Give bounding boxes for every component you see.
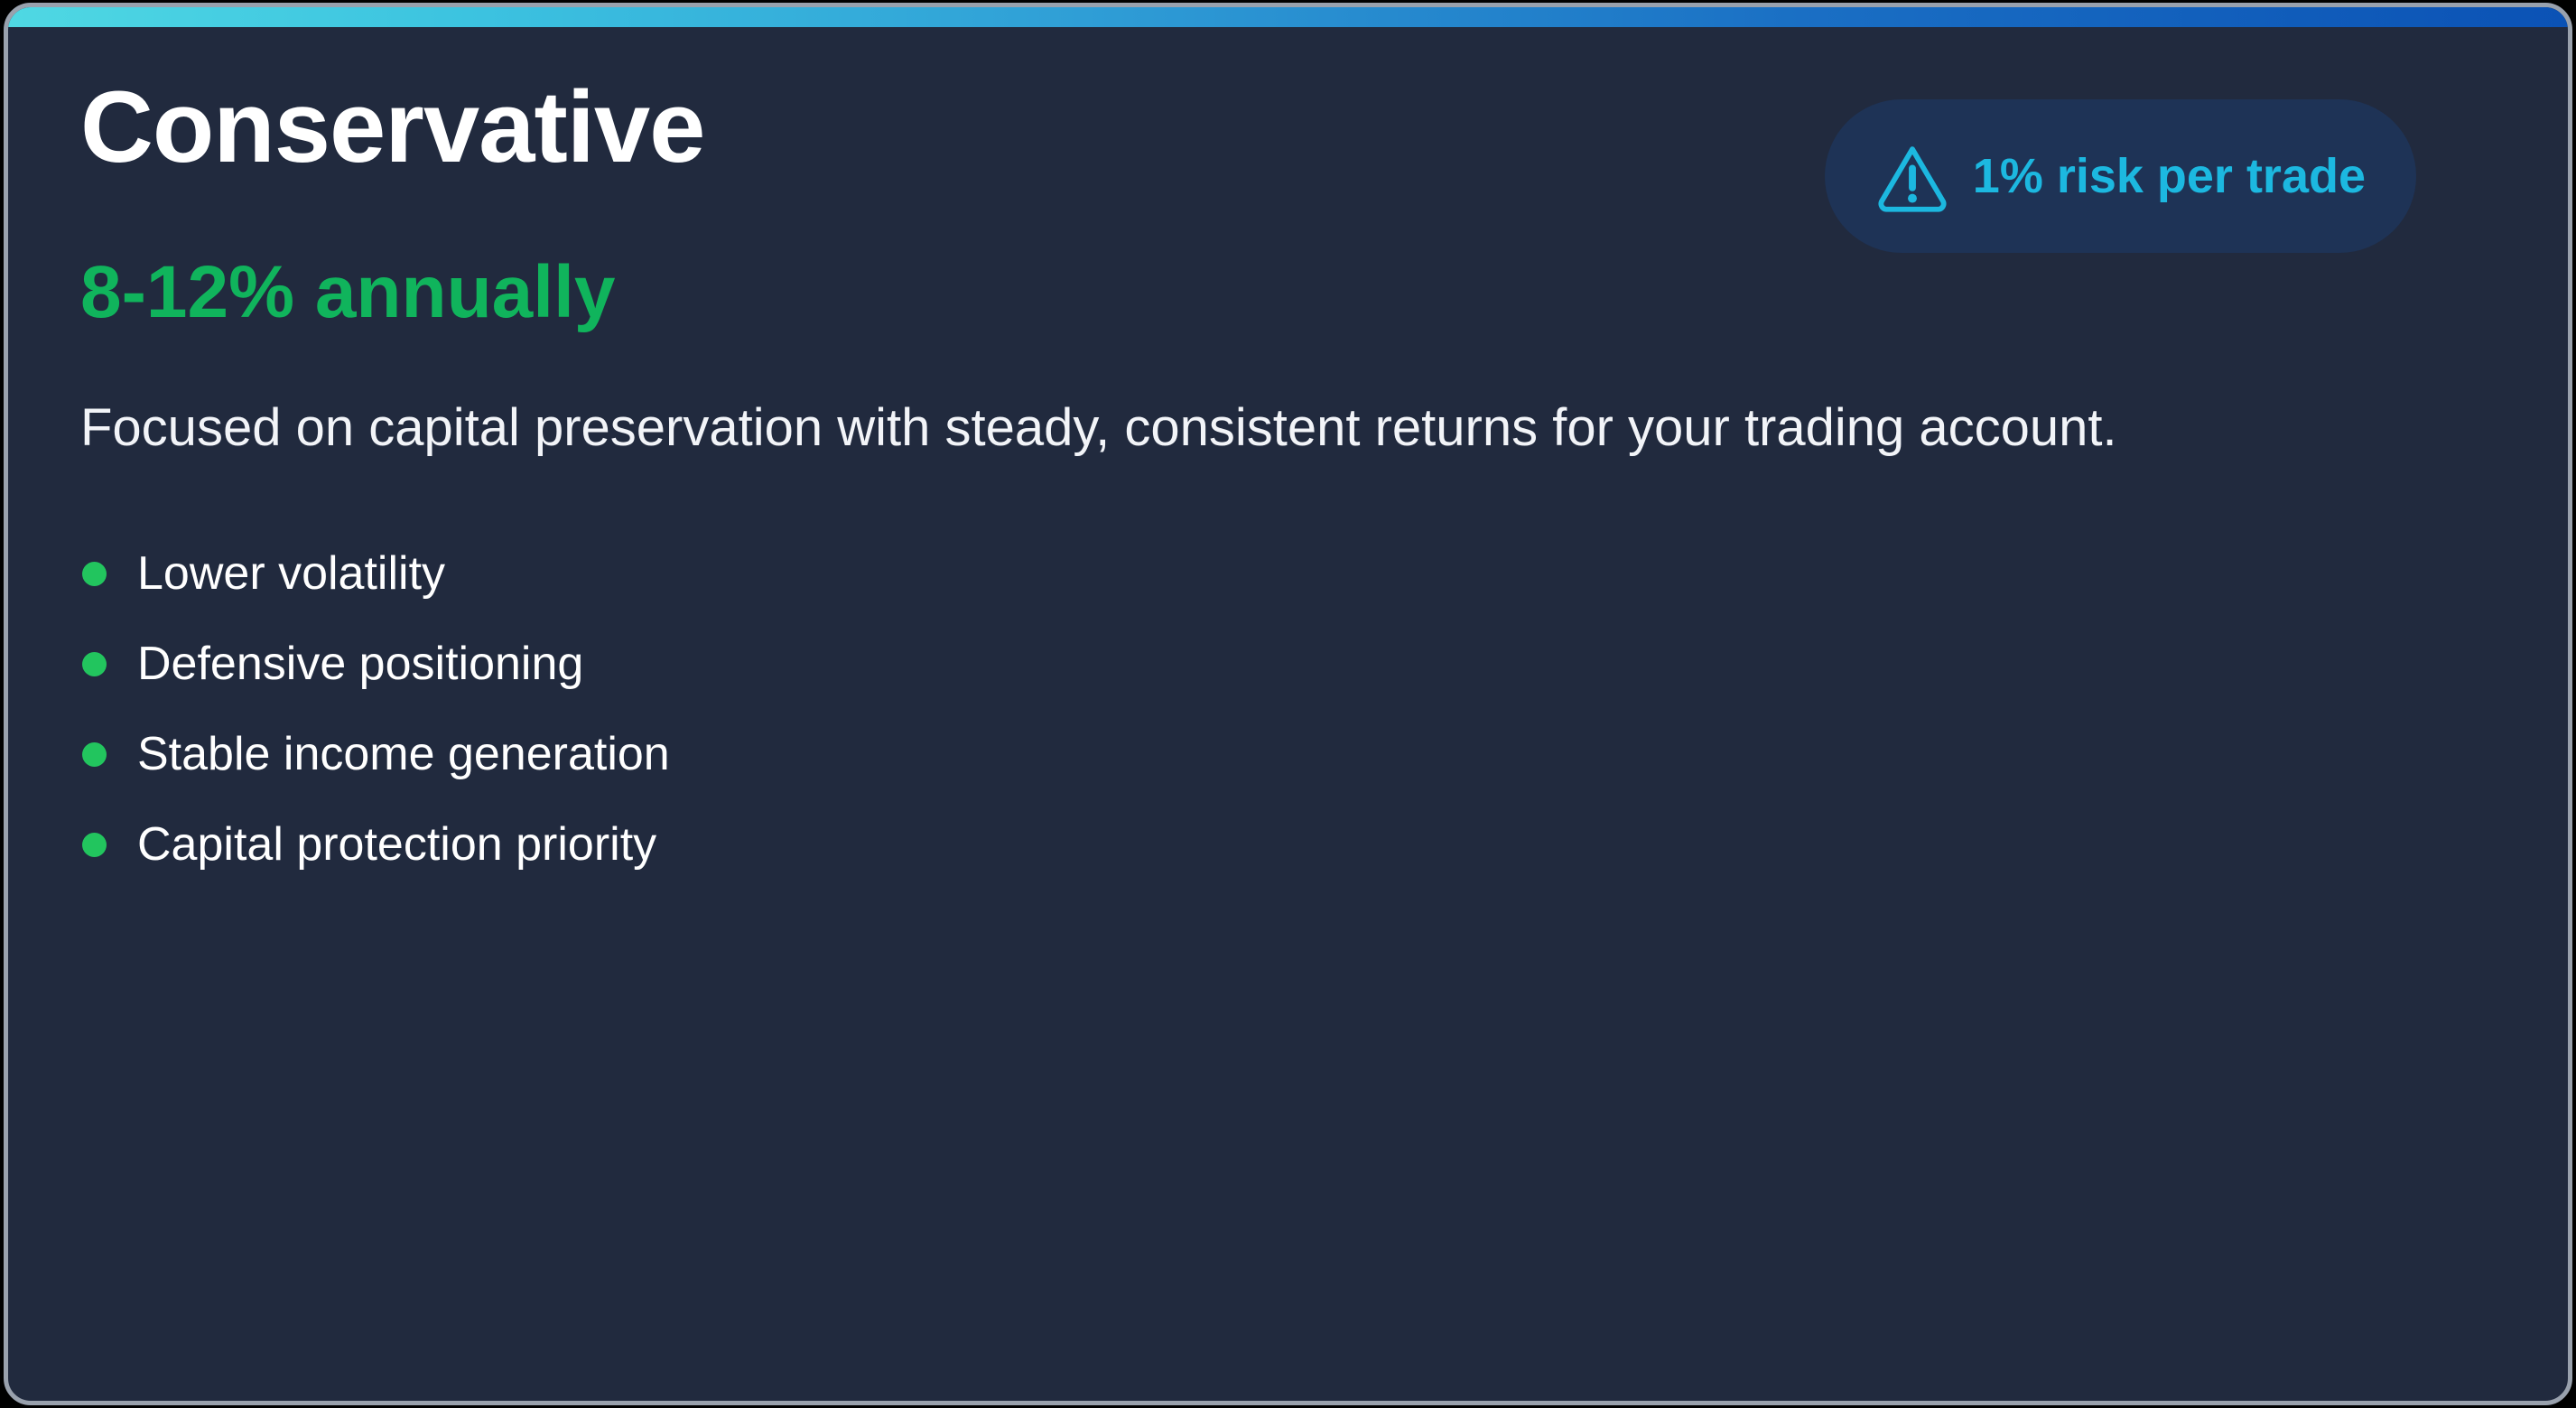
- list-item: Defensive positioning: [82, 619, 2503, 709]
- feature-label: Defensive positioning: [137, 640, 583, 687]
- returns-value: 8-12% annually: [80, 248, 2503, 337]
- feature-list: Lower volatility Defensive positioning S…: [82, 528, 2503, 890]
- description-text: Focused on capital preservation with ste…: [80, 389, 2274, 467]
- risk-badge[interactable]: 1% risk per trade: [1825, 99, 2416, 253]
- page-title: Conservative: [80, 70, 704, 183]
- feature-label: Lower volatility: [137, 550, 445, 597]
- list-item: Stable income generation: [82, 709, 2503, 799]
- warning-triangle-icon: [1875, 139, 1949, 213]
- bullet-icon: [82, 652, 107, 676]
- list-item: Capital protection priority: [82, 799, 2503, 890]
- bullet-icon: [82, 562, 107, 586]
- accent-gradient-bar: [8, 7, 2568, 27]
- feature-label: Stable income generation: [137, 731, 670, 778]
- list-item: Lower volatility: [82, 528, 2503, 619]
- card-header: Conservative 1% risk per trade: [73, 70, 2503, 247]
- feature-label: Capital protection priority: [137, 821, 656, 868]
- bullet-icon: [82, 833, 107, 857]
- bullet-icon: [82, 742, 107, 767]
- risk-badge-label: 1% risk per trade: [1973, 152, 2366, 200]
- card-body: Conservative 1% risk per trade 8-12% ann…: [8, 27, 2568, 1401]
- strategy-card: Conservative 1% risk per trade 8-12% ann…: [4, 3, 2572, 1405]
